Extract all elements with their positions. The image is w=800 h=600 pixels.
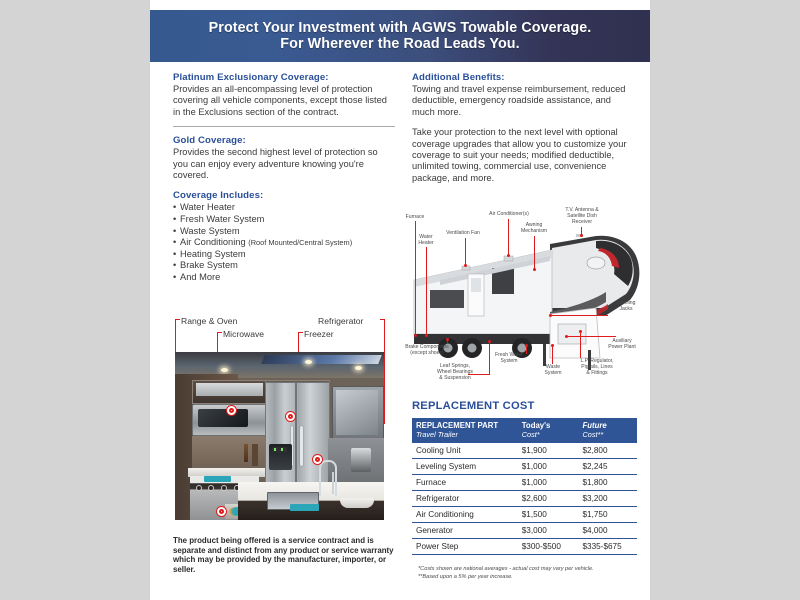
banner-title: Protect Your Investment with AGWS Towabl… bbox=[209, 20, 592, 52]
list-item: Brake System bbox=[173, 260, 395, 272]
additional-benefits-heading: Additional Benefits: bbox=[412, 72, 634, 83]
coverage-item-label: Water Heater bbox=[180, 202, 235, 212]
table-row: Power Step $300-$500 $335-$675 bbox=[412, 539, 637, 555]
list-item: Fresh Water System bbox=[173, 214, 395, 226]
banner-title-line2: For Wherever the Road Leads You. bbox=[209, 36, 592, 52]
leader-water-heater bbox=[426, 247, 427, 336]
cell-today: $1,000 bbox=[518, 475, 579, 491]
cell-today: $300-$500 bbox=[518, 539, 579, 555]
cell-future: $3,200 bbox=[579, 491, 638, 507]
leader-aux-power-h bbox=[566, 336, 616, 337]
rv-label-ventilation-fan: Ventilation Fan bbox=[435, 230, 491, 236]
coverage-item-note: (Roof Mounted/Central System) bbox=[248, 238, 352, 247]
table-row: Generator $3,000 $4,000 bbox=[412, 523, 637, 539]
column-header-today-sub: Cost* bbox=[522, 430, 575, 439]
section-divider bbox=[173, 126, 395, 127]
faucet-arch bbox=[319, 460, 337, 496]
list-item: Air Conditioning (Roof Mounted/Central S… bbox=[173, 237, 395, 249]
list-item: Heating System bbox=[173, 249, 395, 261]
column-header-part: REPLACEMENT PART Travel Trailer bbox=[412, 418, 518, 443]
table-row: Leveling System $1,000 $2,245 bbox=[412, 459, 637, 475]
table-row: Furnace $1,000 $1,800 bbox=[412, 475, 637, 491]
cell-future: $1,750 bbox=[579, 507, 638, 523]
table-row: Air Conditioning $1,500 $1,750 bbox=[412, 507, 637, 523]
cell-part: Leveling System bbox=[412, 459, 518, 475]
microwave-window bbox=[198, 409, 248, 427]
ceiling-light bbox=[355, 366, 362, 370]
rv-label-furnace: Furnace bbox=[397, 214, 433, 220]
marker-range-oven bbox=[217, 507, 226, 516]
cell-future: $4,000 bbox=[579, 523, 638, 539]
table-row: Cooling Unit $1,900 $2,800 bbox=[412, 443, 637, 459]
coverage-item-label: Brake System bbox=[180, 260, 238, 270]
banner-title-line1: Protect Your Investment with AGWS Towabl… bbox=[209, 20, 592, 36]
range-knob bbox=[221, 485, 227, 491]
coverage-item-label: Air Conditioning bbox=[180, 237, 246, 247]
cell-future: $1,800 bbox=[579, 475, 638, 491]
column-header-today: Today's Cost* bbox=[518, 418, 579, 443]
leader-leaf-springs-h bbox=[468, 374, 490, 375]
cell-part: Air Conditioning bbox=[412, 507, 518, 523]
rv-label-air-conditioners: Air Conditioner(s) bbox=[475, 211, 543, 217]
service-contract-disclaimer: The product being offered is a service c… bbox=[173, 536, 401, 574]
freezer-handle bbox=[300, 426, 303, 466]
rv-label-lp-regulator: L.P. Regulator, Pigtails, Lines & Fittin… bbox=[568, 358, 626, 377]
list-item: And More bbox=[173, 272, 395, 284]
dispenser-led bbox=[274, 448, 276, 451]
cell-future: $2,245 bbox=[579, 459, 638, 475]
column-header-today-main: Today's bbox=[522, 421, 551, 430]
list-item: Waste System bbox=[173, 226, 395, 238]
brochure-page: Protect Your Investment with AGWS Towabl… bbox=[150, 0, 650, 600]
ceiling-light bbox=[305, 360, 312, 364]
rv-label-leaf-springs: Leaf Springs, Wheel Bearings & Suspensio… bbox=[420, 363, 490, 382]
cell-today: $1,000 bbox=[518, 459, 579, 475]
cell-today: $3,000 bbox=[518, 523, 579, 539]
table-footnote-2: **Based upon a 5% per year increase. bbox=[418, 574, 643, 581]
coverage-item-label: And More bbox=[180, 272, 220, 282]
leader-air-conditioners bbox=[508, 219, 509, 256]
right-column: Additional Benefits: Towing and travel e… bbox=[412, 72, 634, 184]
table-footnote-1: *Costs shown are national averages - act… bbox=[418, 566, 643, 573]
dispenser-led bbox=[281, 448, 283, 451]
kitchen-interior-photo bbox=[175, 352, 384, 520]
callout-line-refrigerator-v bbox=[384, 319, 385, 423]
cell-part: Cooling Unit bbox=[412, 443, 518, 459]
coverage-item-label: Fresh Water System bbox=[180, 214, 264, 224]
header-banner: Protect Your Investment with AGWS Towabl… bbox=[150, 10, 650, 62]
additional-benefits-body: Towing and travel expense reimbursement,… bbox=[412, 84, 634, 118]
rv-label-awning-mechanism: Awning Mechanism bbox=[510, 222, 558, 234]
column-header-future-main: Future bbox=[583, 421, 607, 430]
coverage-item-label: Heating System bbox=[180, 249, 246, 259]
bottle bbox=[244, 444, 248, 462]
cell-part: Refrigerator bbox=[412, 491, 518, 507]
replacement-cost-table: REPLACEMENT PART Travel Trailer Today's … bbox=[412, 418, 637, 555]
leader-ventilation-fan bbox=[465, 238, 466, 266]
platinum-heading: Platinum Exclusionary Coverage: bbox=[173, 72, 395, 83]
leader-awning-mechanism bbox=[534, 236, 535, 270]
marker-refrigerator bbox=[313, 455, 322, 464]
kitchen-photo-block: Range & Oven Microwave Freezer Refrigera… bbox=[164, 316, 396, 531]
rv-label-leveling-jacks: Leveling Jacks bbox=[606, 300, 646, 312]
callout-label-range-oven: Range & Oven bbox=[181, 316, 237, 326]
ceiling-light bbox=[221, 368, 228, 372]
upper-cabinet-left-panel bbox=[196, 383, 263, 396]
range-knob bbox=[196, 485, 202, 491]
cell-part: Furnace bbox=[412, 475, 518, 491]
cell-today: $1,900 bbox=[518, 443, 579, 459]
faucet-stem bbox=[332, 472, 335, 494]
serving-bowl bbox=[340, 498, 373, 508]
leader-waste-system bbox=[552, 346, 553, 364]
rv-label-auxiliary-power-plant: Auxiliary Power Plant bbox=[598, 338, 646, 350]
callout-label-freezer: Freezer bbox=[304, 329, 334, 339]
gold-body: Provides the second highest level of pro… bbox=[173, 147, 395, 181]
column-header-future-sub: Cost** bbox=[583, 430, 634, 439]
leader-fresh-water-system bbox=[526, 346, 527, 354]
gold-heading: Gold Coverage: bbox=[173, 135, 395, 146]
replacement-cost-title: REPLACEMENT COST bbox=[412, 400, 535, 412]
coverage-includes-list: Water Heater Fresh Water System Waste Sy… bbox=[173, 202, 395, 283]
cell-part: Power Step bbox=[412, 539, 518, 555]
rv-label-fresh-water-system: Fresh Water System bbox=[482, 352, 536, 364]
table-row: Refrigerator $2,600 $3,200 bbox=[412, 491, 637, 507]
utensil-crock bbox=[252, 444, 258, 466]
platinum-body: Provides an all-encompassing level of pr… bbox=[173, 84, 395, 118]
list-item: Water Heater bbox=[173, 202, 395, 214]
rv-component-diagram: Furnace Water Heater Ventilation Fan Air… bbox=[400, 208, 648, 390]
callout-label-refrigerator: Refrigerator bbox=[318, 316, 363, 326]
cell-today: $1,500 bbox=[518, 507, 579, 523]
dot-leveling-jacks bbox=[549, 314, 552, 317]
cell-future: $335-$675 bbox=[579, 539, 638, 555]
dot-auxiliary-power-plant bbox=[565, 335, 568, 338]
coverage-upgrades-body: Take your protection to the next level w… bbox=[412, 127, 634, 184]
column-header-future: Future Cost** bbox=[579, 418, 638, 443]
coffee-maker bbox=[351, 448, 372, 472]
dish-towel bbox=[204, 476, 231, 482]
marker-freezer bbox=[286, 412, 295, 421]
column-header-part-sub: Travel Trailer bbox=[416, 430, 514, 439]
table-header-row: REPLACEMENT PART Travel Trailer Today's … bbox=[412, 418, 637, 443]
left-column: Platinum Exclusionary Coverage: Provides… bbox=[173, 72, 395, 284]
cell-future: $2,800 bbox=[579, 443, 638, 459]
rv-label-brake-components: Brake Components (except shoes) bbox=[394, 344, 460, 356]
coverage-includes-heading: Coverage Includes: bbox=[173, 190, 395, 201]
rv-label-tv-antenna: T.V. Antenna & Satellite Dish Receiver bbox=[552, 207, 612, 226]
coverage-item-label: Waste System bbox=[180, 226, 240, 236]
ceiling-stripe bbox=[261, 355, 382, 364]
right-cabinet-glass bbox=[336, 390, 378, 435]
column-header-part-main: REPLACEMENT PART bbox=[416, 421, 498, 430]
cell-part: Generator bbox=[412, 523, 518, 539]
leader-leveling-jacks-h bbox=[550, 315, 608, 316]
cell-today: $2,600 bbox=[518, 491, 579, 507]
callout-label-microwave: Microwave bbox=[223, 329, 264, 339]
island-towel bbox=[290, 504, 319, 511]
